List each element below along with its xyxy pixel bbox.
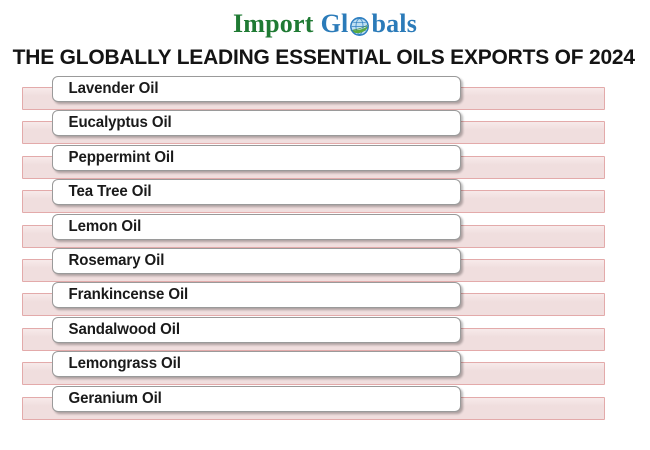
bar-label-text: Lavender Oil	[53, 80, 158, 98]
chart-row: Sandalwood Oil	[0, 317, 650, 351]
bar-label-box[interactable]: Peppermint Oil	[52, 145, 461, 171]
chart-row: Lemongrass Oil	[0, 351, 650, 385]
globe-leaf-icon	[348, 15, 371, 38]
bar-label-text: Lemongrass Oil	[53, 355, 181, 373]
chart-row: Geranium Oil	[0, 386, 650, 420]
chart-row: Rosemary Oil	[0, 248, 650, 282]
chart-row: Lemon Oil	[0, 214, 650, 248]
bar-label-box[interactable]: Lavender Oil	[52, 76, 461, 102]
bar-label-box[interactable]: Lemon Oil	[52, 214, 461, 240]
bar-label-text: Frankincense Oil	[53, 286, 188, 304]
chart-row: Lavender Oil	[0, 76, 650, 110]
chart-row: Frankincense Oil	[0, 282, 650, 316]
page-title: THE GLOBALLY LEADING ESSENTIAL OILS EXPO…	[0, 42, 634, 72]
chart-row: Peppermint Oil	[0, 145, 650, 179]
horizontal-bar-chart: Lavender Oil Eucalyptus Oil Peppermint O…	[0, 76, 650, 434]
bar-label-text: Rosemary Oil	[53, 252, 164, 270]
logo-text-import: Import	[233, 11, 314, 37]
bar-label-text: Tea Tree Oil	[53, 183, 151, 201]
bar-label-text: Eucalyptus Oil	[53, 114, 172, 132]
bar-label-text: Sandalwood Oil	[53, 321, 180, 339]
bar-label-text: Peppermint Oil	[53, 149, 174, 167]
chart-row: Tea Tree Oil	[0, 179, 650, 213]
bar-label-box[interactable]: Frankincense Oil	[52, 282, 461, 308]
bar-label-text: Lemon Oil	[53, 218, 141, 236]
logo-text-bals: bals	[371, 11, 417, 37]
bar-label-box[interactable]: Geranium Oil	[52, 386, 461, 412]
bar-label-box[interactable]: Lemongrass Oil	[52, 351, 461, 377]
brand-logo: Import Gl bals	[0, 0, 650, 42]
chart-row: Eucalyptus Oil	[0, 110, 650, 144]
bar-label-box[interactable]: Eucalyptus Oil	[52, 110, 461, 136]
bar-label-text: Geranium Oil	[53, 390, 162, 408]
bar-label-box[interactable]: Tea Tree Oil	[52, 179, 461, 205]
bar-label-box[interactable]: Sandalwood Oil	[52, 317, 461, 343]
logo-lockup: Import Gl bals	[233, 11, 417, 37]
bar-label-box[interactable]: Rosemary Oil	[52, 248, 461, 274]
logo-text-gl: Gl	[321, 11, 349, 37]
